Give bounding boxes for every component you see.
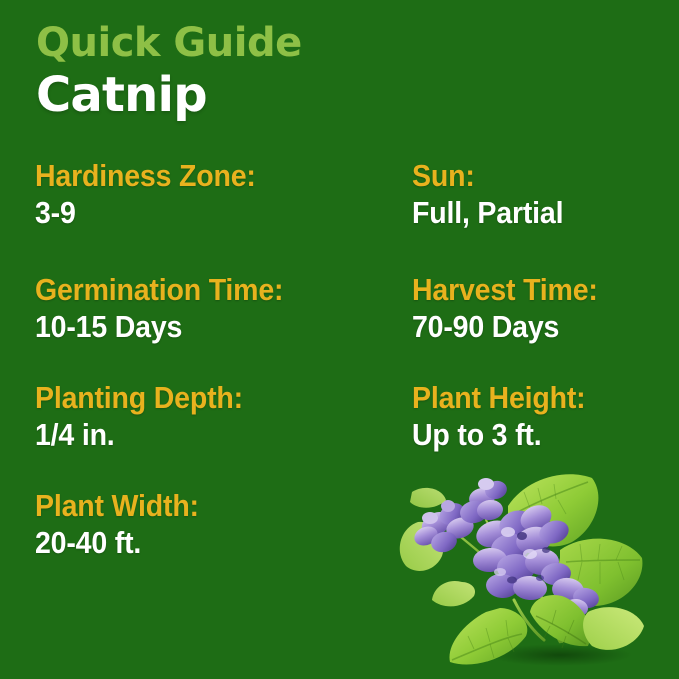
fact-label: Sun: <box>412 158 563 195</box>
fact-value: Full, Partial <box>412 195 563 232</box>
fact-label: Plant Width: <box>35 488 199 525</box>
fact-value: 3-9 <box>35 195 256 232</box>
header: Quick Guide Catnip <box>36 22 302 120</box>
fact-value: Up to 3 ft. <box>412 417 585 454</box>
catnip-plant-image <box>390 462 670 670</box>
fact-label: Hardiness Zone: <box>35 158 256 195</box>
guide-kicker: Quick Guide <box>36 22 302 64</box>
fact-label: Harvest Time: <box>412 272 598 309</box>
quick-guide-infographic: Quick Guide Catnip Hardiness Zone: 3-9 G… <box>0 0 679 679</box>
fact-value: 70-90 Days <box>412 309 598 346</box>
fact-germination-time: Germination Time: 10-15 Days <box>35 272 305 345</box>
fact-value: 10-15 Days <box>35 309 283 346</box>
fact-harvest-time: Harvest Time: 70-90 Days <box>412 272 614 345</box>
fact-plant-height: Plant Height: Up to 3 ft. <box>412 380 601 453</box>
fact-sun: Sun: Full, Partial <box>412 158 577 231</box>
fact-plant-width: Plant Width: 20-40 ft. <box>35 488 213 561</box>
fact-label: Planting Depth: <box>35 380 243 417</box>
fact-label: Plant Height: <box>412 380 585 417</box>
page-title: Catnip <box>36 70 302 120</box>
fact-hardiness-zone: Hardiness Zone: 3-9 <box>35 158 275 231</box>
fact-label: Germination Time: <box>35 272 283 309</box>
fact-value: 1/4 in. <box>35 417 243 454</box>
fact-planting-depth: Planting Depth: 1/4 in. <box>35 380 261 453</box>
fact-value: 20-40 ft. <box>35 525 199 562</box>
flower-spike-top <box>458 478 509 525</box>
